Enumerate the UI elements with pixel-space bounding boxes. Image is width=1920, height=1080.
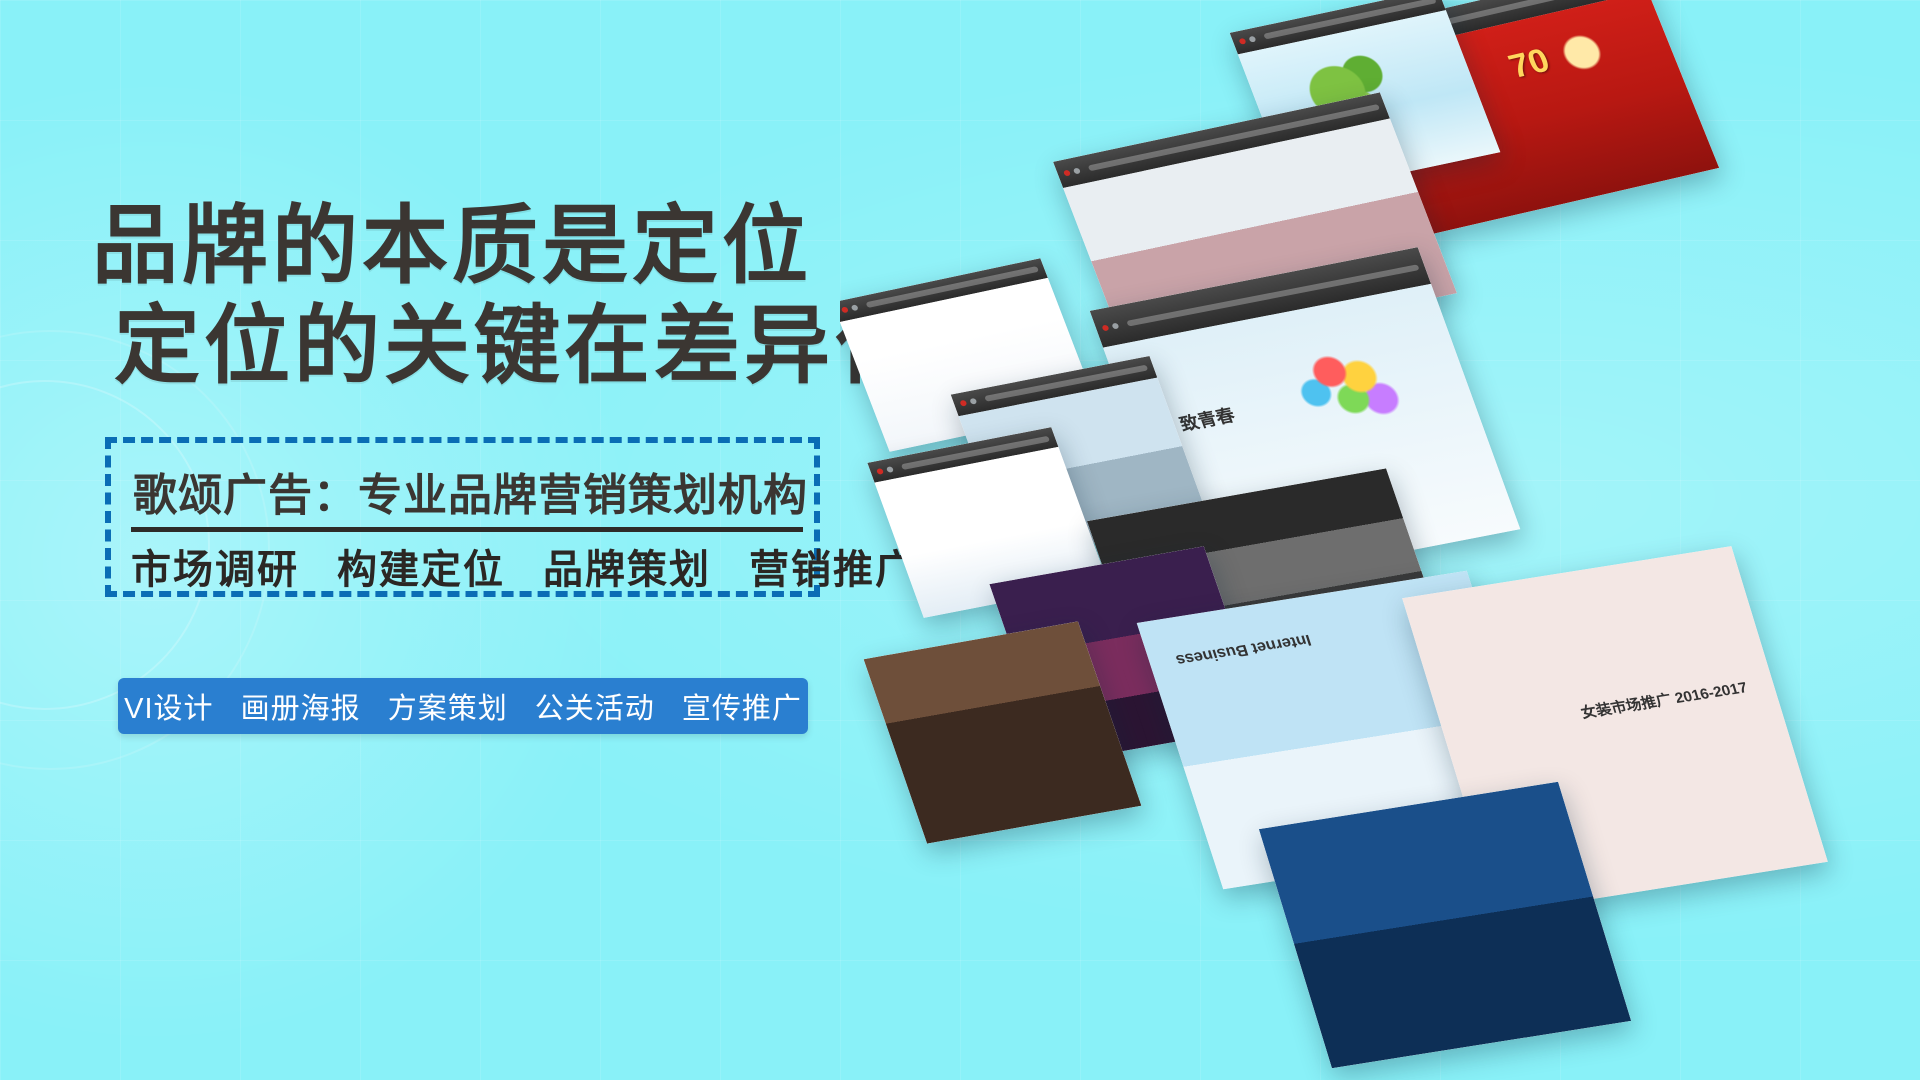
close-icon [841, 307, 849, 314]
minimize-icon [969, 398, 977, 405]
badge-70: 70 [1504, 42, 1556, 87]
card-caption: Internet Business [1174, 629, 1314, 667]
close-icon [1239, 38, 1247, 45]
service-item: 宣传推广 [682, 693, 802, 725]
minimize-icon [1073, 167, 1081, 174]
agency-tagline: 歌颂广告：专业品牌营销策划机构 [133, 459, 808, 523]
service-item: 画册海报 [241, 693, 361, 725]
service-step: 市场调研 [131, 547, 299, 592]
service-item: 方案策划 [388, 693, 508, 725]
close-icon [1101, 324, 1109, 331]
minimize-icon [851, 305, 859, 312]
service-list-text: VI设计 画册海报 方案策划 公关活动 宣传推广 [115, 685, 811, 727]
portfolio-collage: 70 70 荣耀中华 [840, 0, 1920, 1080]
close-icon [960, 400, 968, 407]
minimize-icon [886, 466, 894, 473]
minimize-icon [1249, 36, 1257, 43]
headline-line-2: 定位的关键在差异化 [114, 296, 924, 396]
service-step: 品牌策划 [543, 547, 711, 592]
page-title: 品牌的本质是定位 定位的关键在差异化 [92, 196, 924, 396]
text-column: 品牌的本质是定位 定位的关键在差异化 歌颂广告：专业品牌营销策划机构 市场调研 … [0, 0, 900, 1080]
card-caption: 女装市场推广 2016-2017 [1578, 677, 1750, 723]
card-caption: 致青春 [1176, 402, 1239, 437]
service-item: VI设计 [124, 693, 213, 725]
promo-banner: 品牌的本质是定位 定位的关键在差异化 歌颂广告：专业品牌营销策划机构 市场调研 … [0, 0, 1920, 1080]
close-icon [876, 468, 884, 475]
agency-callout-box: 歌颂广告：专业品牌营销策划机构 市场调研 构建定位 品牌策划 营销推广 [105, 437, 820, 597]
close-icon [1063, 170, 1071, 177]
minimize-icon [1111, 322, 1119, 329]
service-item: 公关活动 [535, 693, 655, 725]
divider [131, 527, 803, 532]
service-steps: 市场调研 构建定位 品牌策划 营销推广 [131, 537, 831, 595]
service-step: 构建定位 [337, 547, 505, 592]
headline-line-1: 品牌的本质是定位 [92, 198, 812, 294]
service-list-bar[interactable]: VI设计 画册海报 方案策划 公关活动 宣传推广 [118, 678, 808, 734]
